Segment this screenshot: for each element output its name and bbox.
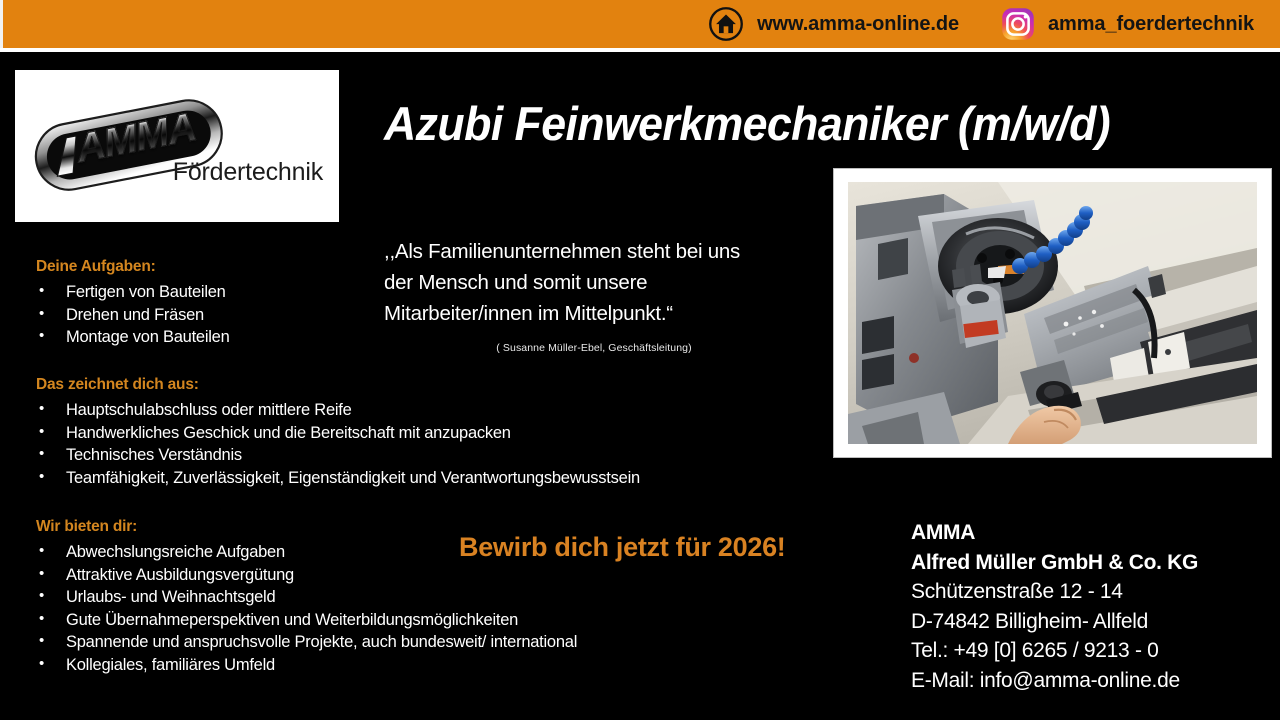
instagram-link-label: amma_foerdertechnik — [1048, 13, 1254, 36]
header-divider — [0, 48, 1280, 52]
bullet-list: Fertigen von Bauteilen Drehen und Fräsen… — [36, 281, 230, 349]
list-item: Hauptschulabschluss oder mittlere Reife — [36, 399, 640, 422]
section-das-zeichnet-dich-aus: Das zeichnet dich aus: Hauptschulabschlu… — [36, 376, 640, 489]
company-quote: ,,Als Familienunternehmen steht bei uns … — [384, 236, 804, 354]
quote-attribution: ( Susanne Müller-Ebel, Geschäftsleitung) — [384, 342, 804, 354]
list-item: Gute Übernahmeperspektiven und Weiterbil… — [36, 609, 577, 632]
logo-subtitle: Fördertechnik — [173, 158, 323, 187]
instagram-link[interactable]: amma_foerdertechnik — [1001, 7, 1254, 41]
contact-legal-name: Alfred Müller GmbH & Co. KG — [911, 548, 1261, 578]
list-item: Urlaubs- und Weihnachtsgeld — [36, 586, 577, 609]
contact-company-name: AMMA — [911, 518, 1261, 548]
section-heading: Deine Aufgaben: — [36, 258, 230, 276]
list-item: Fertigen von Bauteilen — [36, 281, 230, 304]
bullet-list: Hauptschulabschluss oder mittlere Reife … — [36, 399, 640, 489]
lathe-illustration-icon — [848, 182, 1257, 444]
company-logo: AMMA Fördertechnik — [15, 70, 339, 222]
quote-line: Mitarbeiter/innen im Mittelpunkt.“ — [384, 298, 804, 329]
contact-phone: Tel.: +49 [0] 6265 / 9213 - 0 — [911, 636, 1261, 666]
home-icon — [708, 6, 744, 42]
call-to-action: Bewirb dich jetzt für 2026! — [459, 532, 785, 563]
job-ad-poster: www.amma-online.de — [0, 0, 1280, 720]
machine-photo — [848, 182, 1257, 444]
page-title: Azubi Feinwerkmechaniker (m/w/d) — [384, 96, 1201, 151]
instagram-icon — [1001, 7, 1035, 41]
list-item: Montage von Bauteilen — [36, 326, 230, 349]
list-item: Drehen und Fräsen — [36, 304, 230, 327]
header-links: www.amma-online.de — [708, 0, 1254, 48]
list-item: Teamfähigkeit, Zuverlässigkeit, Eigenstä… — [36, 467, 640, 490]
quote-line: ,,Als Familienunternehmen steht bei uns — [384, 236, 804, 267]
list-item: Spannende und anspruchsvolle Projekte, a… — [36, 631, 577, 654]
website-link[interactable]: www.amma-online.de — [708, 6, 959, 42]
quote-line: der Mensch und somit unsere — [384, 267, 804, 298]
contact-street: Schützenstraße 12 - 14 — [911, 577, 1261, 607]
contact-city: D-74842 Billigheim- Allfeld — [911, 607, 1261, 637]
header-bar: www.amma-online.de — [0, 0, 1280, 48]
section-heading: Das zeichnet dich aus: — [36, 376, 640, 394]
contact-email: E-Mail: info@amma-online.de — [911, 666, 1261, 696]
section-deine-aufgaben: Deine Aufgaben: Fertigen von Bauteilen D… — [36, 258, 230, 349]
list-item: Technisches Verständnis — [36, 444, 640, 467]
list-item: Handwerkliches Geschick und die Bereitsc… — [36, 422, 640, 445]
machine-photo-frame — [834, 169, 1271, 457]
list-item: Kollegiales, familiäres Umfeld — [36, 654, 577, 677]
contact-details: AMMA Alfred Müller GmbH & Co. KG Schütze… — [911, 518, 1261, 695]
list-item: Attraktive Ausbildungsvergütung — [36, 564, 577, 587]
website-link-label: www.amma-online.de — [757, 13, 959, 36]
